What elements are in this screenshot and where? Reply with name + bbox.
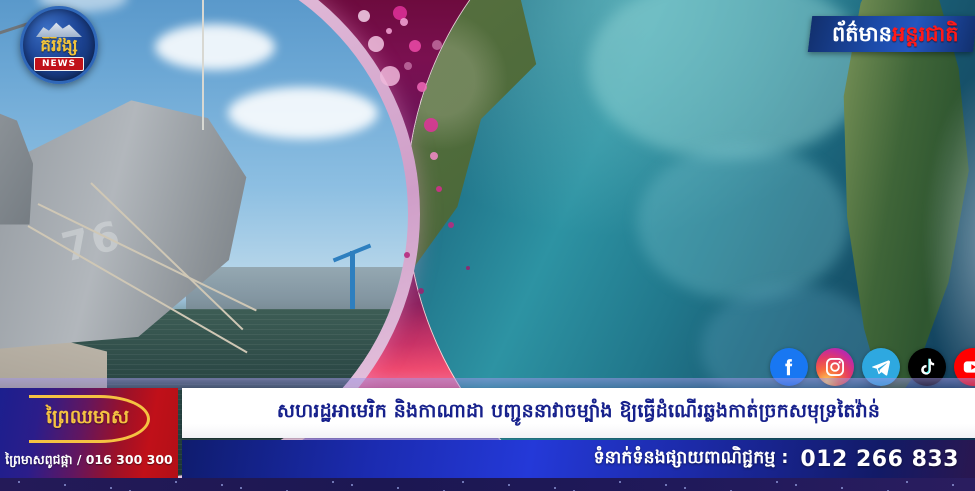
sponsor-caption: ព្រៃមាសពូជផ្កា / 016 300 300 [5,452,172,471]
category-badge[interactable]: ព័ត៌មាន អន្តរជាតិ [808,16,975,52]
contact-label: ទំនាក់ទំនងផ្សាយពាណិជ្ជកម្ម : [593,446,788,472]
contact-bar: ទំនាក់ទំនងផ្សាយពាណិជ្ជកម្ម : 012 266 833 [182,440,975,478]
logo-khmer-text: គិរីវង្ស [40,38,77,55]
cloud [155,24,275,70]
news-graphic: 76 គិរីវង្ស NEWS ព័ត៌មាន អន្តរជាតិ [0,0,975,491]
channel-logo[interactable]: គិរីវង្ស NEWS [20,6,98,84]
badge-label-international: អន្តរជាតិ [892,24,959,45]
headline-text: សហរដ្ឋអាមេរិក និងកាណាដា បញ្ជូននាវាចម្បាំ… [277,399,880,427]
mountain-icon [36,21,82,37]
footer-strip [0,478,975,491]
headline-bar: សហរដ្ឋអាមេរិក និងកាណាដា បញ្ជូននាវាចម្បាំ… [182,388,975,438]
sponsor-panel[interactable]: ព្រៃឈមាស ព្រៃមាសពូជផ្កា / 016 300 300 [0,388,178,478]
sea-swirl [637,145,848,300]
contact-phone: 012 266 833 [800,447,959,472]
flag-pole [202,0,204,130]
logo-news-label: NEWS [34,57,84,71]
badge-label-news: ព័ត៌មាន [832,24,892,45]
sponsor-logo: ព្រៃឈមាស [29,395,150,443]
